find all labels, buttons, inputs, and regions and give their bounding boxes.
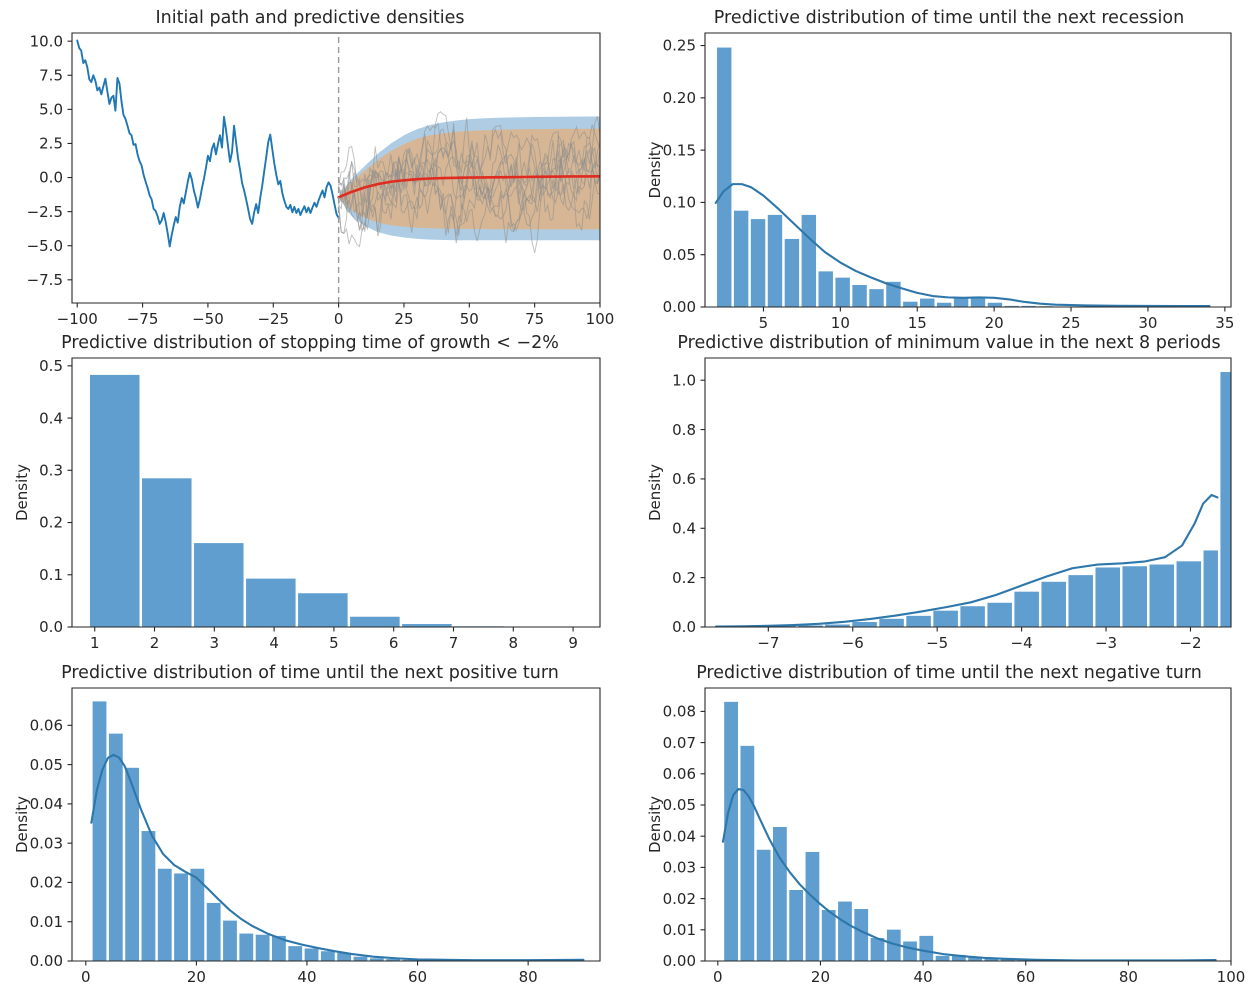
y-axis: 0.000.050.100.150.200.25 — [663, 37, 705, 316]
histogram-bar — [869, 289, 884, 307]
histogram-bars — [92, 701, 580, 961]
x-axis: −7−6−5−4−3−2 — [757, 627, 1201, 652]
x-tick-label: 7 — [449, 634, 459, 652]
histogram-bar — [960, 606, 985, 627]
y-axis-label: Density — [646, 464, 664, 521]
histogram-bar — [108, 733, 123, 961]
x-tick-label: 100 — [1217, 968, 1246, 986]
histogram-bars — [717, 47, 1206, 307]
histogram-bar — [288, 946, 303, 961]
panel-time-until-next-recession: Predictive distribution of time until th… — [639, 4, 1259, 334]
y-tick-label: 10.0 — [30, 32, 63, 50]
histogram-bar — [304, 948, 319, 961]
histogram-bar — [920, 298, 935, 307]
panel-stopping-time-growth: Predictive distribution of stopping time… — [0, 330, 620, 660]
histogram-bar — [174, 873, 189, 961]
y-tick-label: 0.06 — [30, 717, 63, 735]
histogram-bar — [255, 934, 270, 961]
histogram-bar — [767, 214, 782, 307]
y-tick-label: 0.25 — [663, 37, 696, 55]
x-tick-label: 75 — [525, 310, 544, 328]
histogram-bar — [821, 910, 836, 961]
x-tick-label: 50 — [460, 310, 479, 328]
x-tick-label: 60 — [1016, 968, 1035, 986]
plot-area — [91, 701, 583, 961]
y-tick-label: 0.00 — [663, 952, 696, 970]
histogram-bar — [740, 745, 755, 961]
histogram-bars — [90, 374, 505, 627]
x-tick-label: 25 — [394, 310, 413, 328]
y-tick-label: 0.10 — [663, 194, 696, 212]
axes-initial-path: −100−75−50−25025507510010.07.55.02.50.0−… — [0, 4, 620, 334]
y-tick-label: 0.06 — [663, 765, 696, 783]
panel-initial-path: Initial path and predictive densities −1… — [0, 4, 620, 334]
histogram-bar — [353, 956, 368, 961]
x-tick-label: 80 — [519, 968, 538, 986]
histogram-bar — [854, 909, 869, 961]
panel-time-until-next-positive-turn: Predictive distribution of time until th… — [0, 660, 620, 992]
histogram-bar — [838, 901, 853, 961]
histogram-bar — [750, 219, 765, 307]
panel-time-until-next-negative-turn: Predictive distribution of time until th… — [639, 660, 1259, 992]
histogram-bar — [773, 827, 788, 961]
y-tick-label: 0.0 — [39, 618, 63, 636]
x-tick-label: 4 — [269, 634, 279, 652]
y-tick-label: 7.5 — [39, 66, 63, 84]
histogram-bar — [298, 593, 348, 627]
x-tick-label: 6 — [389, 634, 399, 652]
y-tick-label: 0.00 — [30, 952, 63, 970]
plot-area — [77, 27, 600, 313]
x-tick-label: −100 — [57, 310, 98, 328]
y-tick-label: 0.07 — [663, 734, 696, 752]
x-tick-label: −75 — [127, 310, 159, 328]
histogram-bar — [835, 277, 850, 307]
x-tick-label: −7 — [757, 634, 779, 652]
histogram-bar — [879, 618, 904, 627]
x-tick-label: −25 — [257, 310, 289, 328]
plot-area — [716, 372, 1245, 627]
histogram-bar — [194, 543, 244, 627]
histogram-bar — [987, 302, 1002, 307]
histogram-bar — [818, 271, 833, 307]
y-axis-label: Density — [13, 796, 31, 853]
histogram-bar — [937, 302, 952, 307]
axes-time-until-next-negative-turn: 0204060801000.000.010.020.030.040.050.06… — [639, 660, 1259, 992]
y-tick-label: 0.04 — [30, 795, 63, 813]
histogram-bars — [717, 372, 1246, 627]
x-tick-label: 0 — [713, 968, 723, 986]
y-tick-label: 1.0 — [672, 371, 696, 389]
x-tick-label: 80 — [1119, 968, 1138, 986]
histogram-bar — [246, 578, 296, 627]
histogram-bar — [1203, 550, 1218, 627]
histogram-bar — [784, 239, 799, 308]
histogram-bar — [1095, 567, 1120, 627]
y-tick-label: 0.03 — [663, 859, 696, 877]
y-tick-label: 0.05 — [663, 796, 696, 814]
y-tick-label: −7.5 — [27, 271, 63, 289]
y-tick-label: 0.02 — [663, 890, 696, 908]
y-tick-label: 0.08 — [663, 703, 696, 721]
axes-time-until-next-recession: 51015202530350.000.050.100.150.200.25Den… — [639, 4, 1259, 334]
y-tick-label: 0.02 — [30, 874, 63, 892]
y-tick-label: 0.2 — [672, 569, 696, 587]
observed-series-line — [77, 41, 338, 247]
histogram-bar — [852, 285, 867, 307]
histogram-bar — [805, 851, 820, 961]
plot-area — [723, 701, 1216, 961]
x-tick-label: 8 — [509, 634, 519, 652]
y-tick-label: 0.05 — [30, 756, 63, 774]
histogram-bar — [756, 849, 771, 961]
y-tick-label: 0.01 — [663, 921, 696, 939]
panel-minimum-value-next-8-periods: Predictive distribution of minimum value… — [639, 330, 1259, 660]
axes-minimum-value-next-8-periods: −7−6−5−4−3−20.00.20.40.60.81.0Density — [639, 330, 1259, 660]
histogram-bar — [903, 301, 918, 307]
x-tick-label: 40 — [914, 968, 933, 986]
histogram-bar — [987, 602, 1012, 627]
histogram-bar — [935, 955, 950, 961]
x-tick-label: −5 — [926, 634, 948, 652]
x-tick-label: 20 — [811, 968, 830, 986]
y-tick-label: 0.5 — [39, 357, 63, 375]
y-tick-label: 0.3 — [39, 462, 63, 480]
x-axis: 020406080 — [81, 961, 538, 986]
histogram-bar — [1041, 581, 1066, 627]
y-tick-label: 0.0 — [39, 169, 63, 187]
x-axis: 5101520253035 — [759, 307, 1235, 332]
histogram-bar — [733, 210, 748, 307]
x-tick-label: 20 — [187, 968, 206, 986]
x-tick-label: 1 — [90, 634, 100, 652]
y-tick-label: 0.01 — [30, 913, 63, 931]
x-tick-label: 5 — [329, 634, 339, 652]
x-tick-label: 2 — [150, 634, 160, 652]
histogram-bar — [1149, 564, 1174, 627]
histogram-bar — [239, 933, 254, 961]
y-tick-label: 0.2 — [39, 514, 63, 532]
x-axis: 123456789 — [90, 627, 578, 652]
y-tick-label: 0.00 — [663, 298, 696, 316]
x-tick-label: −50 — [192, 310, 224, 328]
y-tick-label: 0.1 — [39, 566, 63, 584]
histogram-bar — [789, 890, 804, 961]
histogram-bar — [320, 951, 335, 961]
histogram-bar — [919, 935, 934, 961]
y-tick-label: 0.04 — [663, 827, 696, 845]
y-axis: 0.000.010.020.030.040.050.060.070.08 — [663, 703, 705, 971]
y-axis: 0.00.10.20.30.40.5 — [39, 357, 72, 636]
histogram-bar — [1176, 561, 1201, 627]
y-tick-label: 0.03 — [30, 834, 63, 852]
x-tick-label: −6 — [842, 634, 864, 652]
y-tick-label: 0.4 — [39, 409, 63, 427]
histogram-bar — [206, 902, 221, 961]
histogram-bar — [801, 214, 816, 307]
y-tick-label: 5.0 — [39, 101, 63, 119]
x-tick-label: −2 — [1179, 634, 1201, 652]
y-tick-label: 0.15 — [663, 141, 696, 159]
y-tick-label: 2.5 — [39, 135, 63, 153]
histogram-bar — [141, 831, 156, 961]
y-tick-label: 0.05 — [663, 246, 696, 264]
histogram-bar — [717, 47, 732, 307]
axes-stopping-time-growth: 1234567890.00.10.20.30.40.5Density — [0, 330, 620, 660]
histogram-bar — [933, 610, 958, 627]
y-tick-label: 0.8 — [672, 421, 696, 439]
y-axis: 0.000.010.020.030.040.050.06 — [30, 717, 72, 971]
histogram-bar — [724, 701, 739, 961]
histogram-bar — [350, 616, 400, 627]
x-tick-label: 0 — [81, 968, 91, 986]
histogram-bar — [1014, 591, 1039, 627]
x-tick-label: 40 — [297, 968, 316, 986]
y-tick-label: 0.20 — [663, 89, 696, 107]
x-tick-label: 9 — [568, 634, 578, 652]
x-tick-label: 3 — [210, 634, 220, 652]
y-axis-label: Density — [646, 141, 664, 198]
histogram-bar — [157, 868, 172, 961]
y-axis-label: Density — [13, 464, 31, 521]
x-tick-label: 100 — [586, 310, 615, 328]
histogram-bar — [90, 374, 140, 627]
histogram-bar — [1068, 575, 1093, 627]
y-tick-label: −5.0 — [27, 237, 63, 255]
histogram-bars — [724, 701, 1210, 961]
y-tick-label: 0.4 — [672, 519, 696, 537]
histogram-bar — [1220, 372, 1245, 627]
y-tick-label: −2.5 — [27, 203, 63, 221]
histogram-bar — [92, 701, 107, 961]
x-tick-label: 0 — [334, 310, 344, 328]
x-tick-label: −4 — [1011, 634, 1033, 652]
y-axis-label: Density — [646, 796, 664, 853]
y-tick-label: 0.0 — [672, 618, 696, 636]
x-tick-label: −3 — [1095, 634, 1117, 652]
histogram-bar — [142, 478, 192, 627]
histogram-bar — [903, 941, 918, 961]
plot-area — [716, 47, 1210, 307]
x-axis: 020406080100 — [713, 961, 1245, 986]
histogram-bar — [852, 622, 877, 627]
y-tick-label: 0.6 — [672, 470, 696, 488]
axes-time-until-next-positive-turn: 0204060800.000.010.020.030.040.050.06Den… — [0, 660, 620, 992]
x-tick-label: 60 — [408, 968, 427, 986]
y-axis: 0.00.20.40.60.81.0 — [672, 371, 705, 636]
plot-area — [90, 374, 505, 627]
y-axis: 10.07.55.02.50.0−2.5−5.0−7.5 — [27, 32, 72, 289]
matplotlib-figure: Initial path and predictive densities −1… — [0, 0, 1259, 992]
histogram-bar — [223, 920, 238, 961]
histogram-bar — [906, 615, 931, 627]
x-axis: −100−75−50−250255075100 — [57, 303, 615, 328]
histogram-bar — [1122, 566, 1147, 627]
